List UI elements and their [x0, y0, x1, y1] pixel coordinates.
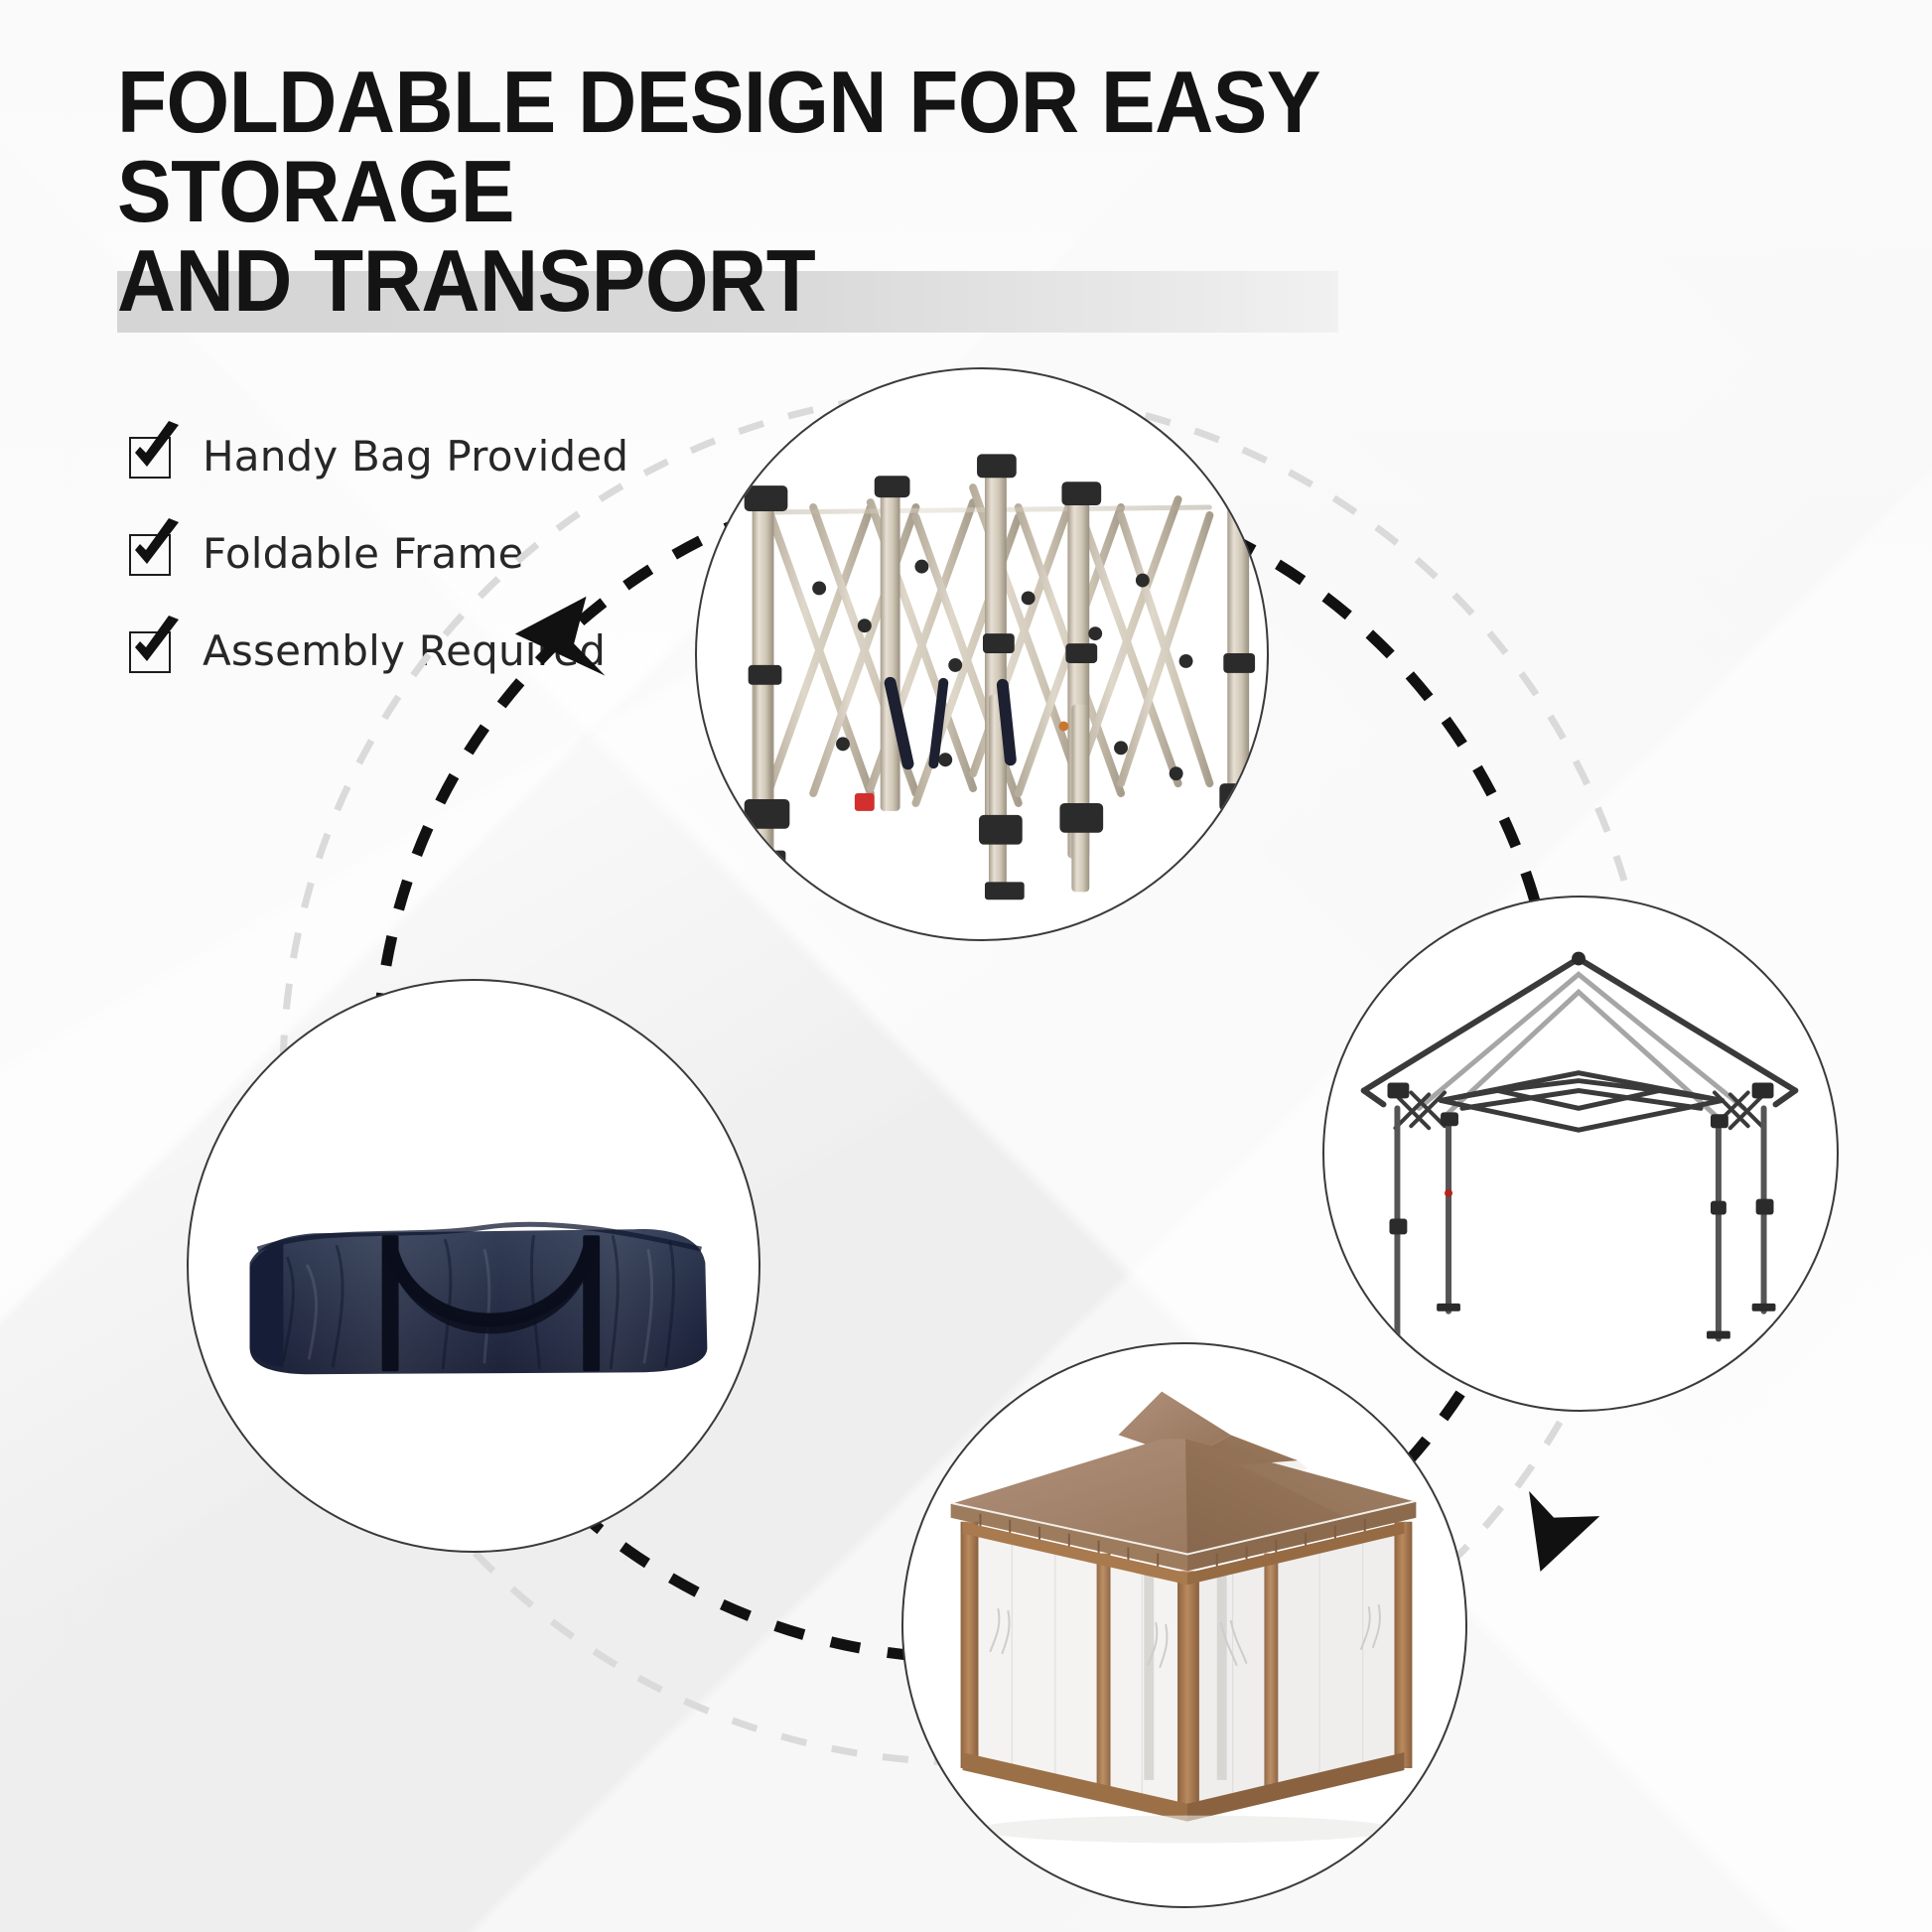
erected-frame-illustration — [1364, 952, 1796, 1363]
circle-frame-folded — [695, 367, 1269, 941]
checkbox-checked-icon — [125, 625, 177, 675]
infographic-root: FOLDABLE DESIGN FOR EASY STORAGE AND TRA… — [0, 0, 1932, 1932]
list-item: Assembly Required — [125, 621, 741, 679]
feature-label: Handy Bag Provided — [203, 432, 628, 481]
checkbox-checked-icon — [125, 528, 177, 578]
feature-checklist: Handy Bag Provided Foldable Frame Assemb… — [125, 427, 741, 719]
page-title: FOLDABLE DESIGN FOR EASY STORAGE AND TRA… — [117, 58, 1687, 325]
circle-carry-bag — [187, 979, 760, 1553]
carry-bag-illustration — [250, 1224, 708, 1374]
checkbox-checked-icon — [125, 431, 177, 481]
list-item: Foldable Frame — [125, 524, 741, 582]
circle-gazebo-assembled — [901, 1342, 1467, 1908]
gazebo-illustration — [951, 1392, 1417, 1844]
list-item: Handy Bag Provided — [125, 427, 741, 484]
circle-frame-erected — [1322, 896, 1839, 1412]
arrow-to-gazebo — [1529, 1482, 1606, 1573]
folded-frame-illustration — [745, 454, 1263, 899]
feature-label: Assembly Required — [203, 626, 606, 675]
feature-label: Foldable Frame — [203, 529, 524, 578]
